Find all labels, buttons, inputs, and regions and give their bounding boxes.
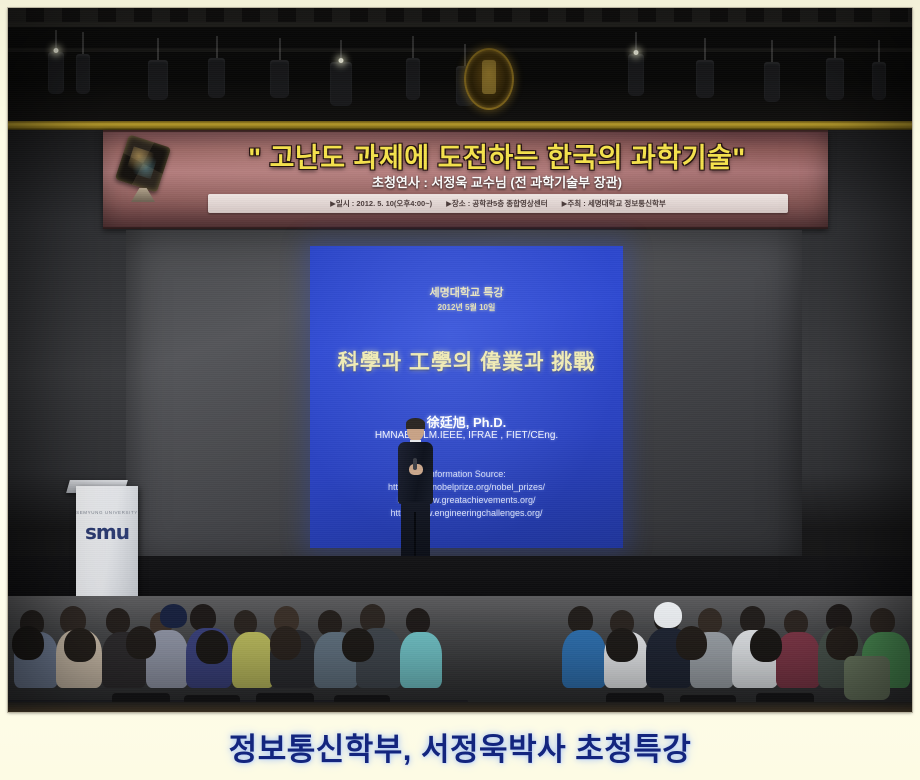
audience-head bbox=[126, 626, 156, 659]
presenter-figure bbox=[394, 420, 436, 572]
stage-light-icon bbox=[76, 54, 90, 94]
audience-head bbox=[106, 608, 130, 634]
audience-head bbox=[196, 630, 228, 664]
stage-light-icon bbox=[696, 60, 714, 98]
audience-head bbox=[870, 608, 895, 634]
banner-info-date: ▶일시 : 2012. 5. 10(오후4:00~) bbox=[330, 198, 432, 209]
stage-light-icon bbox=[208, 58, 225, 98]
photo-bottom-edge bbox=[8, 702, 912, 712]
caption-text: 정보통신학부, 서정욱박사 초청특강 bbox=[229, 724, 692, 769]
audience-head bbox=[750, 628, 782, 662]
presentation-slide: 세명대학교 특강 2012년 5월 10일 科學과 工學의 偉業과 挑戰 徐廷旭… bbox=[310, 246, 623, 548]
audience-body bbox=[400, 632, 442, 688]
audience-head bbox=[676, 626, 707, 660]
audience-head-white-cap bbox=[654, 602, 682, 628]
audience-head bbox=[606, 628, 638, 662]
banner-info-host: ▶주최 : 세명대학교 정보통신학부 bbox=[562, 198, 666, 209]
audience-body bbox=[562, 630, 606, 688]
stage-light-icon bbox=[872, 62, 886, 100]
slide-speaker-name: 徐廷旭, Ph.D. bbox=[310, 412, 623, 431]
slide-title: 科學과 工學의 偉業과 挑戰 bbox=[310, 346, 623, 376]
presenter-leg-split bbox=[414, 512, 416, 562]
slide-credentials: HMNAEK, LM.IEEE, IFRAE , FIET/CEng. bbox=[310, 430, 623, 441]
slide-sources: Information Source: http://www.nobelpriz… bbox=[310, 468, 623, 520]
ceiling-emblem-icon bbox=[464, 48, 514, 110]
lecture-photograph: " 고난도 과제에 도전하는 한국의 과학기술" 초청연사 : 서정욱 교수님 … bbox=[8, 8, 912, 712]
presenter-microphone-icon bbox=[413, 458, 417, 470]
lectern-podium: SEMYUNG UNIVERSITY smu bbox=[76, 486, 138, 598]
audience-head bbox=[826, 626, 858, 660]
stage-light-icon bbox=[48, 52, 64, 94]
page-root: " 고난도 과제에 도전하는 한국의 과학기술" 초청연사 : 서정욱 교수님 … bbox=[0, 0, 920, 780]
audience-head bbox=[64, 628, 96, 662]
slide-header: 세명대학교 특강 bbox=[310, 284, 623, 300]
audience-head bbox=[342, 628, 374, 662]
audience-head bbox=[12, 626, 44, 660]
audience-head bbox=[568, 606, 593, 633]
banner-subtitle: 초청연사 : 서정욱 교수님 (전 과학기술부 장관) bbox=[173, 172, 821, 191]
photo-frame: " 고난도 과제에 도전하는 한국의 과학기술" 초청연사 : 서정욱 교수님 … bbox=[8, 8, 912, 712]
ceiling-beam-lower bbox=[8, 48, 912, 52]
stage-light-icon bbox=[148, 60, 168, 100]
audience-head bbox=[270, 626, 301, 660]
stage-light-icon bbox=[270, 60, 289, 98]
banner-info-place: ▶장소 : 공학관5층 종합영상센터 bbox=[446, 198, 548, 209]
caption-bar: 정보통신학부, 서정욱박사 초청특강 bbox=[0, 716, 920, 776]
presenter-hair bbox=[406, 418, 425, 429]
audience-area bbox=[8, 596, 912, 712]
stage-light-icon bbox=[330, 62, 352, 106]
podium-tagline: SEMYUNG UNIVERSITY bbox=[76, 510, 138, 515]
stage-light-icon bbox=[764, 62, 780, 102]
banner-title: " 고난도 과제에 도전하는 한국의 과학기술" bbox=[173, 136, 821, 175]
stage-light-icon bbox=[826, 58, 844, 100]
ceiling-beam-upper bbox=[8, 22, 912, 27]
slide-source-link: http://www.greatachievements.org/ bbox=[310, 494, 623, 507]
slide-source-label: Information Source: bbox=[310, 468, 623, 481]
slide-date: 2012년 5월 10일 bbox=[310, 302, 623, 313]
slide-source-link: http://www.nobelprize.org/nobel_prizes/ bbox=[310, 481, 623, 494]
audience-body bbox=[776, 632, 820, 688]
stage-light-icon bbox=[628, 54, 644, 96]
stage-light-icon bbox=[406, 58, 420, 100]
smu-logo: smu bbox=[76, 520, 138, 544]
gold-trim bbox=[8, 121, 912, 130]
backpack-icon bbox=[844, 656, 890, 700]
audience-head bbox=[406, 608, 430, 634]
ceiling bbox=[8, 8, 912, 126]
audience-head bbox=[190, 604, 216, 631]
audience-head-cap bbox=[160, 604, 187, 628]
slide-source-link: http://www.engineeringchallenges.org/ bbox=[310, 507, 623, 520]
banner-info-bar: ▶일시 : 2012. 5. 10(오후4:00~) ▶장소 : 공학관5층 종… bbox=[208, 194, 788, 213]
event-banner: " 고난도 과제에 도전하는 한국의 과학기술" 초청연사 : 서정욱 교수님 … bbox=[103, 130, 828, 229]
audience-body bbox=[232, 632, 274, 688]
